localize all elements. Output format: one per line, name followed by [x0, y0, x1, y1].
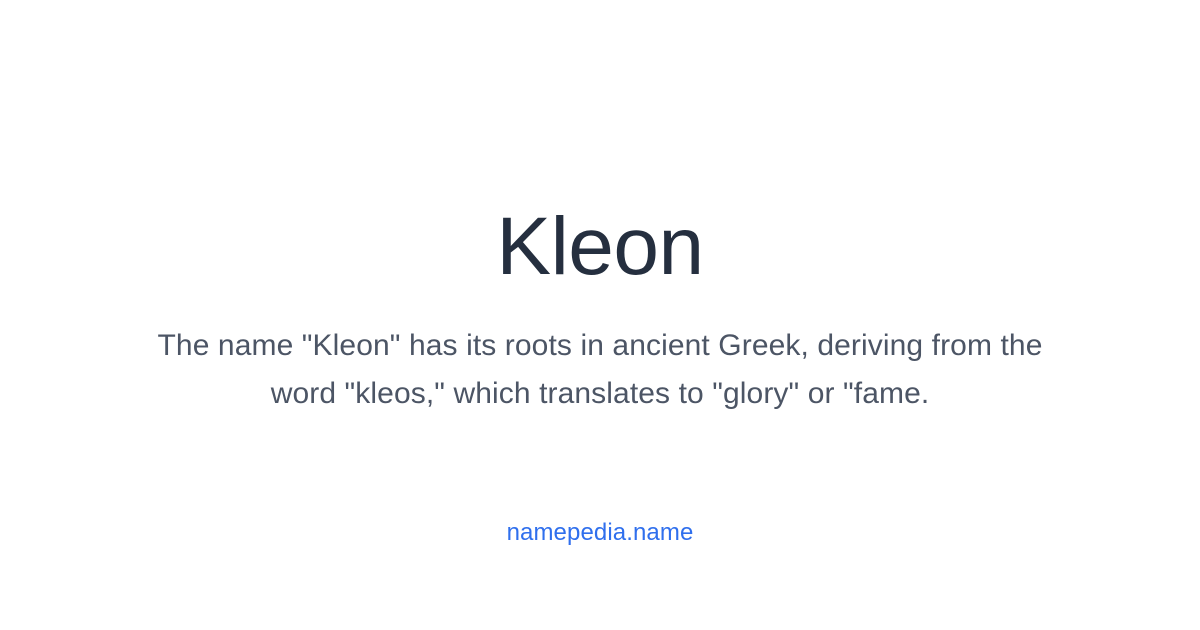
page-title: Kleon [496, 206, 703, 288]
site-link[interactable]: namepedia.name [507, 518, 694, 548]
name-description: The name "Kleon" has its roots in ancien… [140, 322, 1060, 418]
name-info-card: Kleon The name "Kleon" has its roots in … [0, 0, 1200, 630]
main-content: Kleon The name "Kleon" has its roots in … [0, 206, 1200, 418]
footer: namepedia.name [0, 518, 1200, 548]
